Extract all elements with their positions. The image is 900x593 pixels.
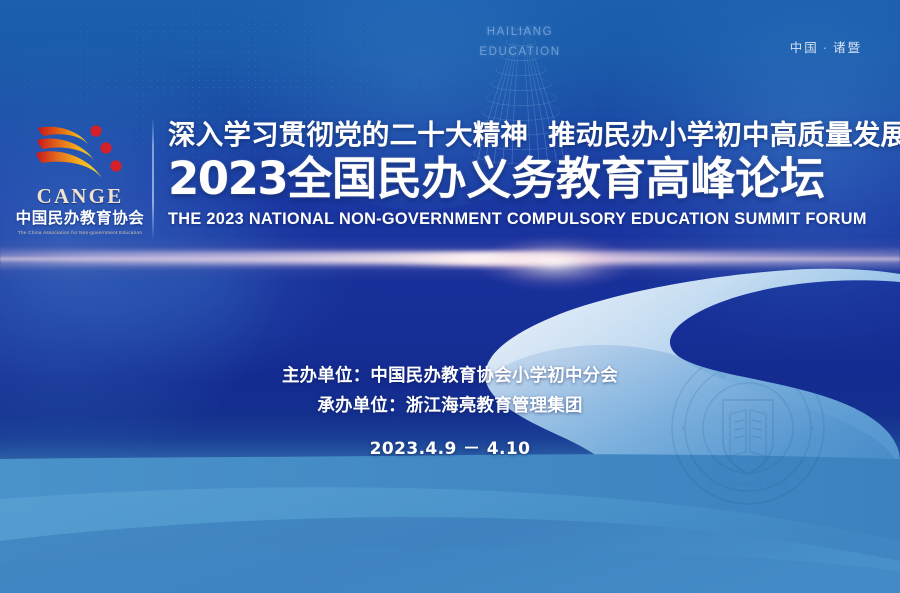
kicker-part-1: 深入学习贯彻党的二十大精神 — [168, 119, 528, 150]
title-block: 深入学习贯彻党的二十大精神推动民办小学初中高质量发展 2023全国民办义务教育高… — [168, 118, 868, 229]
tower-brand-label: HAILIANG EDUCATION — [452, 22, 588, 62]
location-country: 中国 — [790, 41, 819, 55]
location-separator: · — [819, 41, 833, 55]
location-city: 诸暨 — [833, 41, 862, 55]
main-title-year: 2023 — [168, 152, 287, 205]
event-location: 中国·诸暨 — [790, 40, 862, 56]
host-organization: 主办单位：中国民办教育协会小学初中分会 — [0, 360, 900, 390]
logo-acronym: CANGE — [14, 185, 146, 207]
logo-chinese-name: 中国民办教育协会 — [14, 210, 146, 227]
main-title: 2023全国民办义务教育高峰论坛 — [168, 154, 868, 204]
logo-title-divider — [152, 120, 154, 238]
svg-text:HAILIANG EDUCATION: HAILIANG EDUCATION — [706, 479, 788, 488]
cange-logo: CANGE 中国民办教育协会 The China Association for… — [14, 118, 146, 238]
event-date: 2023.4.9 － 4.10 — [0, 434, 900, 459]
english-subtitle: THE 2023 NATIONAL NON-GOVERNMENT COMPULS… — [168, 209, 865, 229]
main-title-text: 全国民办义务教育高峰论坛 — [287, 153, 825, 204]
kicker-part-2: 推动民办小学初中高质量发展 — [548, 119, 900, 150]
logo-english-name: The China Association for Non-government… — [13, 229, 148, 236]
organizer-block: 主办单位：中国民办教育协会小学初中分会 承办单位：浙江海亮教育管理集团 — [0, 360, 900, 420]
conference-poster: HAILIANG EDUCATION — [0, 0, 900, 593]
cange-swoosh-logo-icon — [30, 118, 130, 186]
headline-kicker: 深入学习贯彻党的二十大精神推动民办小学初中高质量发展 — [168, 118, 868, 152]
co-organizer: 承办单位：浙江海亮教育管理集团 — [0, 390, 900, 420]
